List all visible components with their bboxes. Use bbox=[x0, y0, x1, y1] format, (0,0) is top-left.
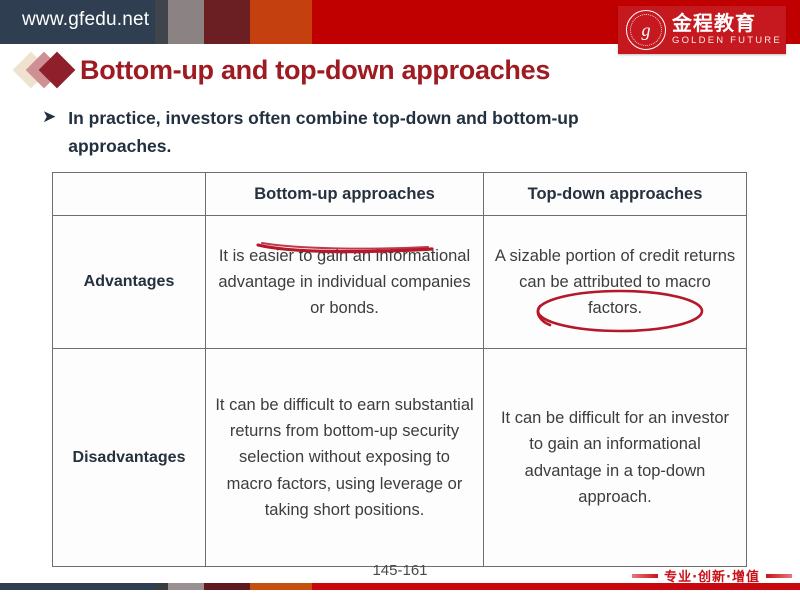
brand-logo: g 金程教育 GOLDEN FUTURE bbox=[618, 6, 786, 54]
arrow-bullet-icon: ➤ bbox=[42, 104, 56, 161]
page-title: Bottom-up and top-down approaches bbox=[80, 55, 550, 86]
footer-segment-orange bbox=[250, 583, 312, 590]
slide-canvas: www.gfedu.net g 金程教育 GOLDEN FUTURE Botto… bbox=[0, 0, 800, 600]
slide-title-row: Bottom-up and top-down approaches bbox=[18, 48, 550, 92]
footer-segment-gray bbox=[168, 583, 204, 590]
cell-disadvantages-top-down: It can be difficult for an investor to g… bbox=[484, 349, 747, 567]
comparison-table: Bottom-up approaches Top-down approaches… bbox=[52, 172, 747, 567]
site-url-text: www.gfedu.net bbox=[22, 9, 149, 31]
logo-english-name: GOLDEN FUTURE bbox=[672, 35, 782, 47]
logo-chinese-name: 金程教育 bbox=[672, 13, 782, 34]
bullet-item: ➤ In practice, investors often combine t… bbox=[42, 104, 742, 161]
footer-segment-navy bbox=[0, 583, 155, 590]
header-segment-orange bbox=[250, 0, 312, 44]
slogan-text: 专业·创新·增值 bbox=[664, 566, 760, 585]
cell-advantages-top-down: A sizable portion of credit returns can … bbox=[484, 216, 747, 349]
column-header-bottom-up: Bottom-up approaches bbox=[206, 173, 484, 216]
diamond-bullet-icon bbox=[18, 50, 80, 90]
table-corner-cell bbox=[53, 173, 206, 216]
footer-segment-maroon bbox=[204, 583, 250, 590]
row-label-disadvantages: Disadvantages bbox=[53, 349, 206, 567]
header-segment-darkgray bbox=[155, 0, 168, 44]
header-segment-gray bbox=[168, 0, 204, 44]
slogan-dash-right-icon bbox=[766, 574, 792, 578]
table-header-row: Bottom-up approaches Top-down approaches bbox=[53, 173, 747, 216]
table-row: Disadvantages It can be difficult to ear… bbox=[53, 349, 747, 567]
seal-glyph: g bbox=[642, 21, 651, 39]
seal-icon: g bbox=[626, 10, 666, 50]
logo-text-block: 金程教育 GOLDEN FUTURE bbox=[672, 13, 782, 47]
cell-advantages-bottom-up: It is easier to gain an informational ad… bbox=[206, 216, 484, 349]
footer-slogan: 专业·创新·增值 bbox=[632, 566, 792, 585]
slogan-dash-left-icon bbox=[632, 574, 658, 578]
cell-disadvantages-bottom-up: It can be difficult to earn substantial … bbox=[206, 349, 484, 567]
footer-segment-darkgray bbox=[155, 583, 168, 590]
header-segment-maroon bbox=[204, 0, 250, 44]
row-label-advantages: Advantages bbox=[53, 216, 206, 349]
column-header-top-down: Top-down approaches bbox=[484, 173, 747, 216]
bullet-text: In practice, investors often combine top… bbox=[68, 104, 668, 161]
table-row: Advantages It is easier to gain an infor… bbox=[53, 216, 747, 349]
